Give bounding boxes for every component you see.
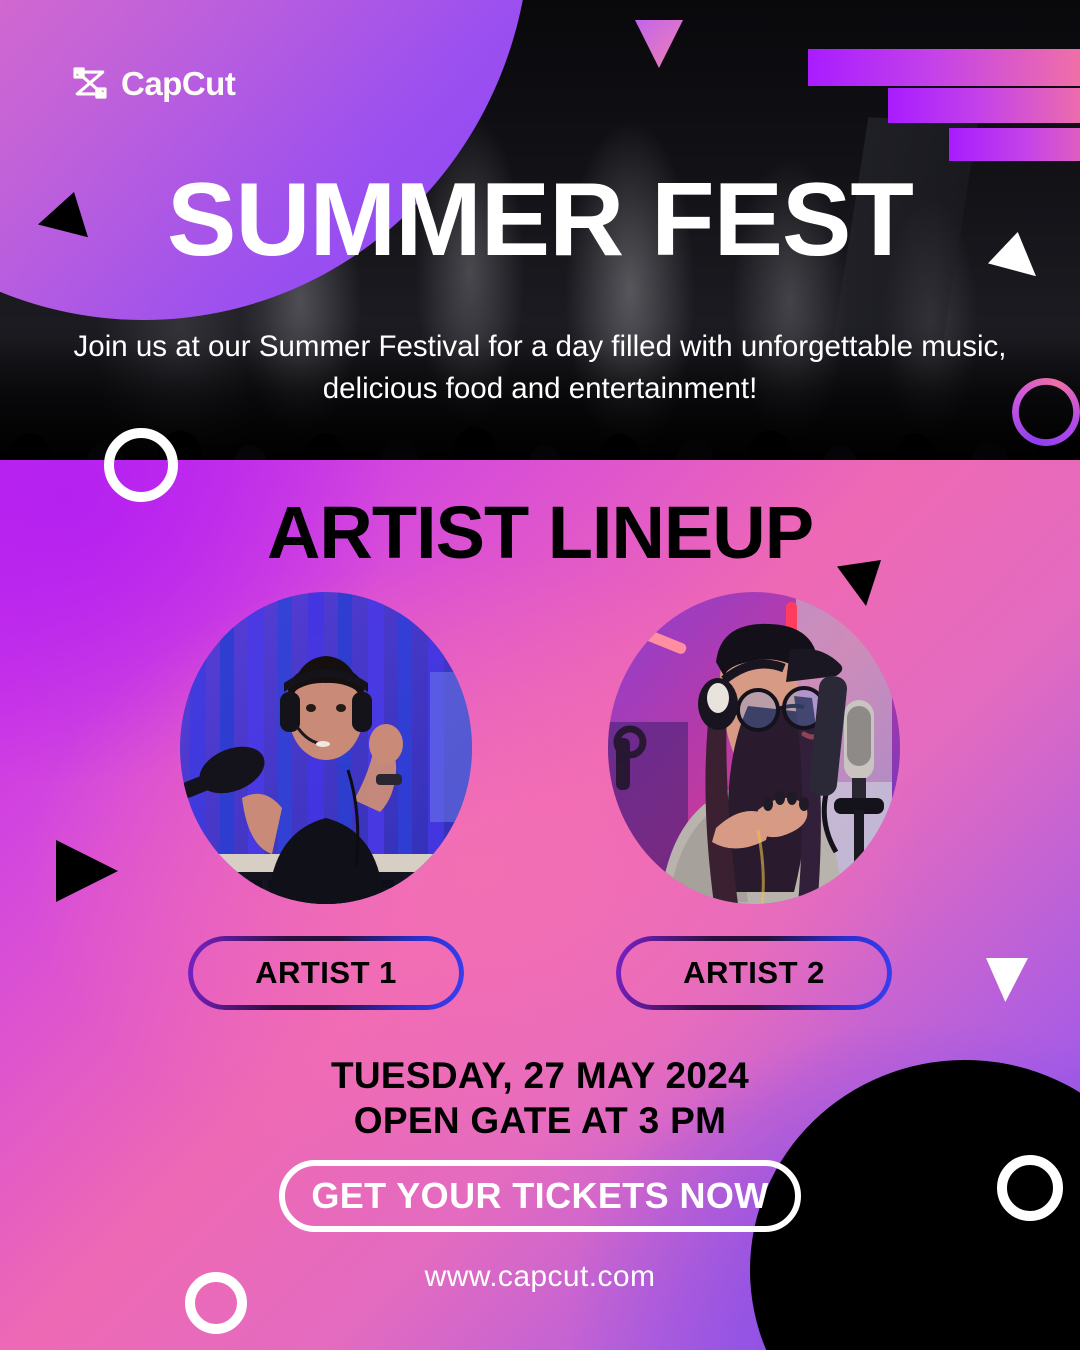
artist-card[interactable]: ARTIST 1 <box>180 592 472 1010</box>
capcut-hourglass-icon <box>70 63 110 103</box>
gradient-bar-2 <box>888 88 1080 123</box>
circle-outline-gradient-icon <box>1012 378 1080 446</box>
artist-list: ARTIST 1 <box>0 592 1080 1010</box>
get-tickets-label: GET YOUR TICKETS NOW <box>311 1175 768 1217</box>
header-subtitle: Join us at our Summer Festival for a day… <box>64 326 1016 410</box>
get-tickets-button[interactable]: GET YOUR TICKETS NOW <box>279 1160 801 1232</box>
artist-button-label: ARTIST 1 <box>255 955 397 991</box>
website-url[interactable]: www.capcut.com <box>0 1260 1080 1294</box>
gradient-bar-3 <box>949 128 1080 161</box>
page-title: SUMMER FEST <box>0 168 1080 272</box>
event-datetime: TUESDAY, 27 MAY 2024 OPEN GATE AT 3 PM <box>0 1053 1080 1143</box>
artist-photo <box>608 592 900 904</box>
capcut-logo-text: CapCut <box>121 67 235 100</box>
event-date-line: TUESDAY, 27 MAY 2024 <box>0 1053 1080 1098</box>
artist-photo <box>180 592 472 904</box>
artist-2-portrait-icon <box>608 592 900 904</box>
event-time-line: OPEN GATE AT 3 PM <box>0 1098 1080 1143</box>
circle-outline-icon-2 <box>997 1155 1063 1221</box>
header-section: CapCut SUMMER FEST Join us at our Summer… <box>0 0 1080 460</box>
artist-button-label: ARTIST 2 <box>683 955 825 991</box>
gradient-bar-1 <box>808 49 1080 86</box>
artist-button[interactable]: ARTIST 2 <box>616 936 892 1010</box>
artist-1-portrait-icon <box>180 592 472 904</box>
poster-canvas: CapCut SUMMER FEST Join us at our Summer… <box>0 0 1080 1350</box>
lineup-heading: ARTIST LINEUP <box>0 496 1080 570</box>
artist-button[interactable]: ARTIST 1 <box>188 936 464 1010</box>
artist-card[interactable]: ARTIST 2 <box>608 592 900 1010</box>
circle-outline-icon-1 <box>104 428 178 502</box>
capcut-logo[interactable]: CapCut <box>70 63 235 103</box>
